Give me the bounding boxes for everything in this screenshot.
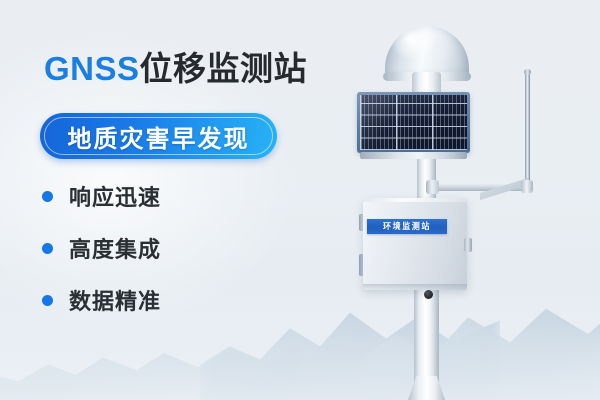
tagline-label: 地质灾害早发现 [68,119,250,154]
solar-panel-base [360,152,467,159]
tagline-badge: 地质灾害早发现 [40,113,277,159]
solar-panel-glass [360,95,467,150]
solar-panel [357,92,470,153]
bullet-dot-icon [42,191,53,202]
headline-en: GNSS [44,50,140,87]
crossarm-hub [426,180,439,194]
feature-label: 响应迅速 [69,180,161,212]
crossarm-end-cap [521,180,533,193]
enclosure-top-edge [363,198,467,202]
whip-antenna [525,72,530,184]
product-banner: GNSS位移监测站 地质灾害早发现 响应迅速 高度集成 数据精准 [0,0,600,400]
enclosure-shadow [363,284,467,291]
enclosure-label-text: 环境监测站 [383,221,431,233]
headline-cn: 位移监测站 [140,50,308,87]
list-item: 响应迅速 [42,182,161,210]
enclosure-name-plate: 环境监测站 [367,219,447,234]
bullet-dot-icon [42,243,53,254]
copy-block: GNSS位移监测站 地质灾害早发现 响应迅速 高度集成 数据精准 [0,0,340,400]
solar-panel-sheen [360,95,467,150]
feature-list: 响应迅速 高度集成 数据精准 [42,182,161,338]
list-item: 高度集成 [42,234,161,262]
page-title: GNSS位移监测站 [44,52,307,85]
list-item: 数据精准 [42,286,161,314]
enclosure-box [363,198,467,290]
bullet-dot-icon [42,295,53,306]
enclosure-latch [464,238,472,252]
mast-bolt [424,290,433,299]
whip-antenna-tip [524,69,531,75]
feature-label: 高度集成 [69,232,161,264]
monitoring-station-illustration: 环境监测站 [330,0,600,400]
feature-label: 数据精准 [69,284,161,316]
